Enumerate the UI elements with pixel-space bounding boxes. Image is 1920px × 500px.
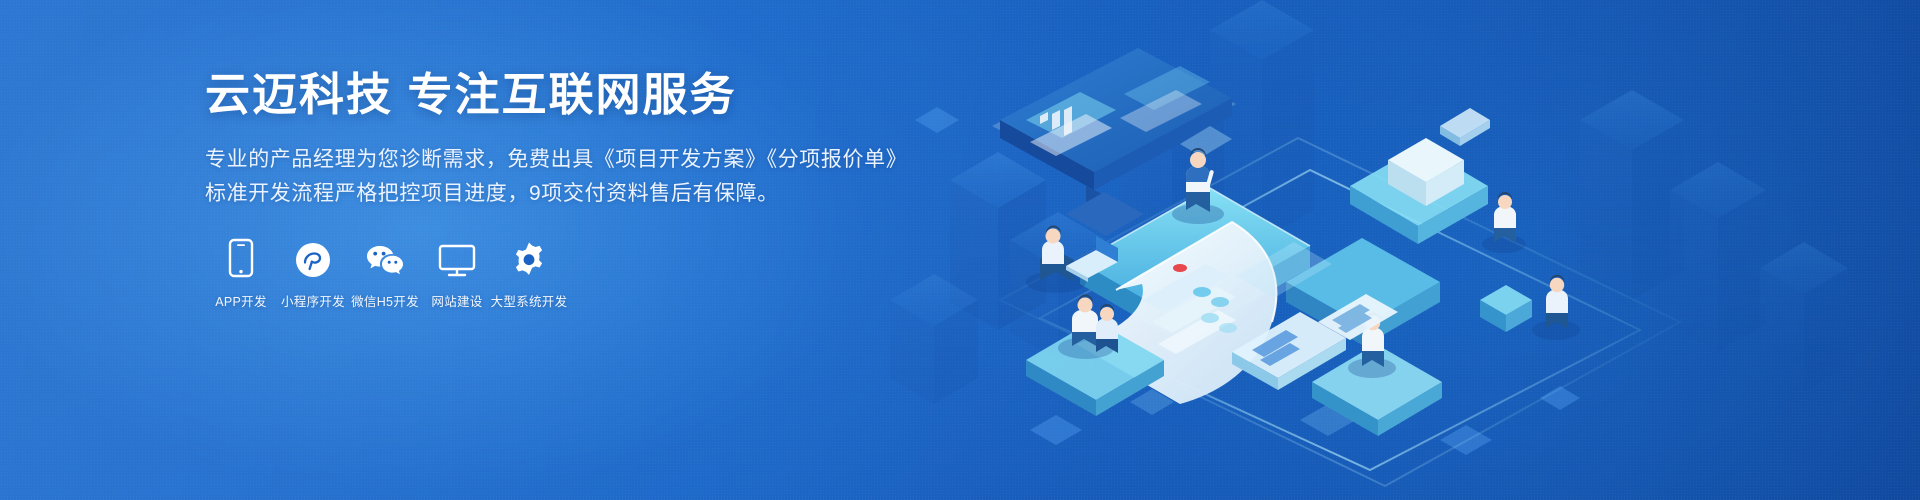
service-label-app: APP开发: [215, 291, 267, 310]
hero-subtitle-line-1: 专业的产品经理为您诊断需求，免费出具《项目开发方案》《分项报价单》: [205, 143, 907, 177]
wechat-icon: [364, 232, 406, 278]
person-a: [1172, 148, 1224, 224]
service-item-mini-program[interactable]: 小程序开发: [277, 232, 349, 310]
hero-copy: 云迈科技 专注互联网服务 专业的产品经理为您诊断需求，免费出具《项目开发方案》《…: [205, 68, 907, 211]
mini-program-icon: [295, 232, 331, 278]
person-c: [1482, 192, 1526, 253]
mobile-phone-icon: [228, 232, 254, 278]
service-item-large-system[interactable]: 大型系统开发: [493, 232, 565, 310]
service-label-wechat-h5: 微信H5开发: [351, 291, 419, 310]
service-label-large-system: 大型系统开发: [491, 291, 568, 310]
gear-icon: [510, 232, 548, 278]
service-icon-row: APP开发 小程序开发: [205, 232, 565, 310]
hero-subtitle-line-2: 标准开发流程严格把控项目进度，9项交付资料售后有保障。: [205, 177, 907, 211]
service-item-wechat-h5[interactable]: 微信H5开发: [349, 232, 421, 310]
service-label-website: 网站建设: [431, 291, 482, 310]
monitor-icon: [438, 232, 476, 278]
service-item-app[interactable]: APP开发: [205, 232, 277, 310]
isometric-illustration: [880, 0, 1920, 500]
page-title: 云迈科技 专注互联网服务: [205, 68, 907, 121]
service-label-mini-program: 小程序开发: [281, 291, 345, 310]
person-d: [1532, 275, 1580, 340]
service-item-website[interactable]: 网站建设: [421, 232, 493, 310]
hero-banner: 云迈科技 专注互联网服务 专业的产品经理为您诊断需求，免费出具《项目开发方案》《…: [0, 0, 1920, 500]
